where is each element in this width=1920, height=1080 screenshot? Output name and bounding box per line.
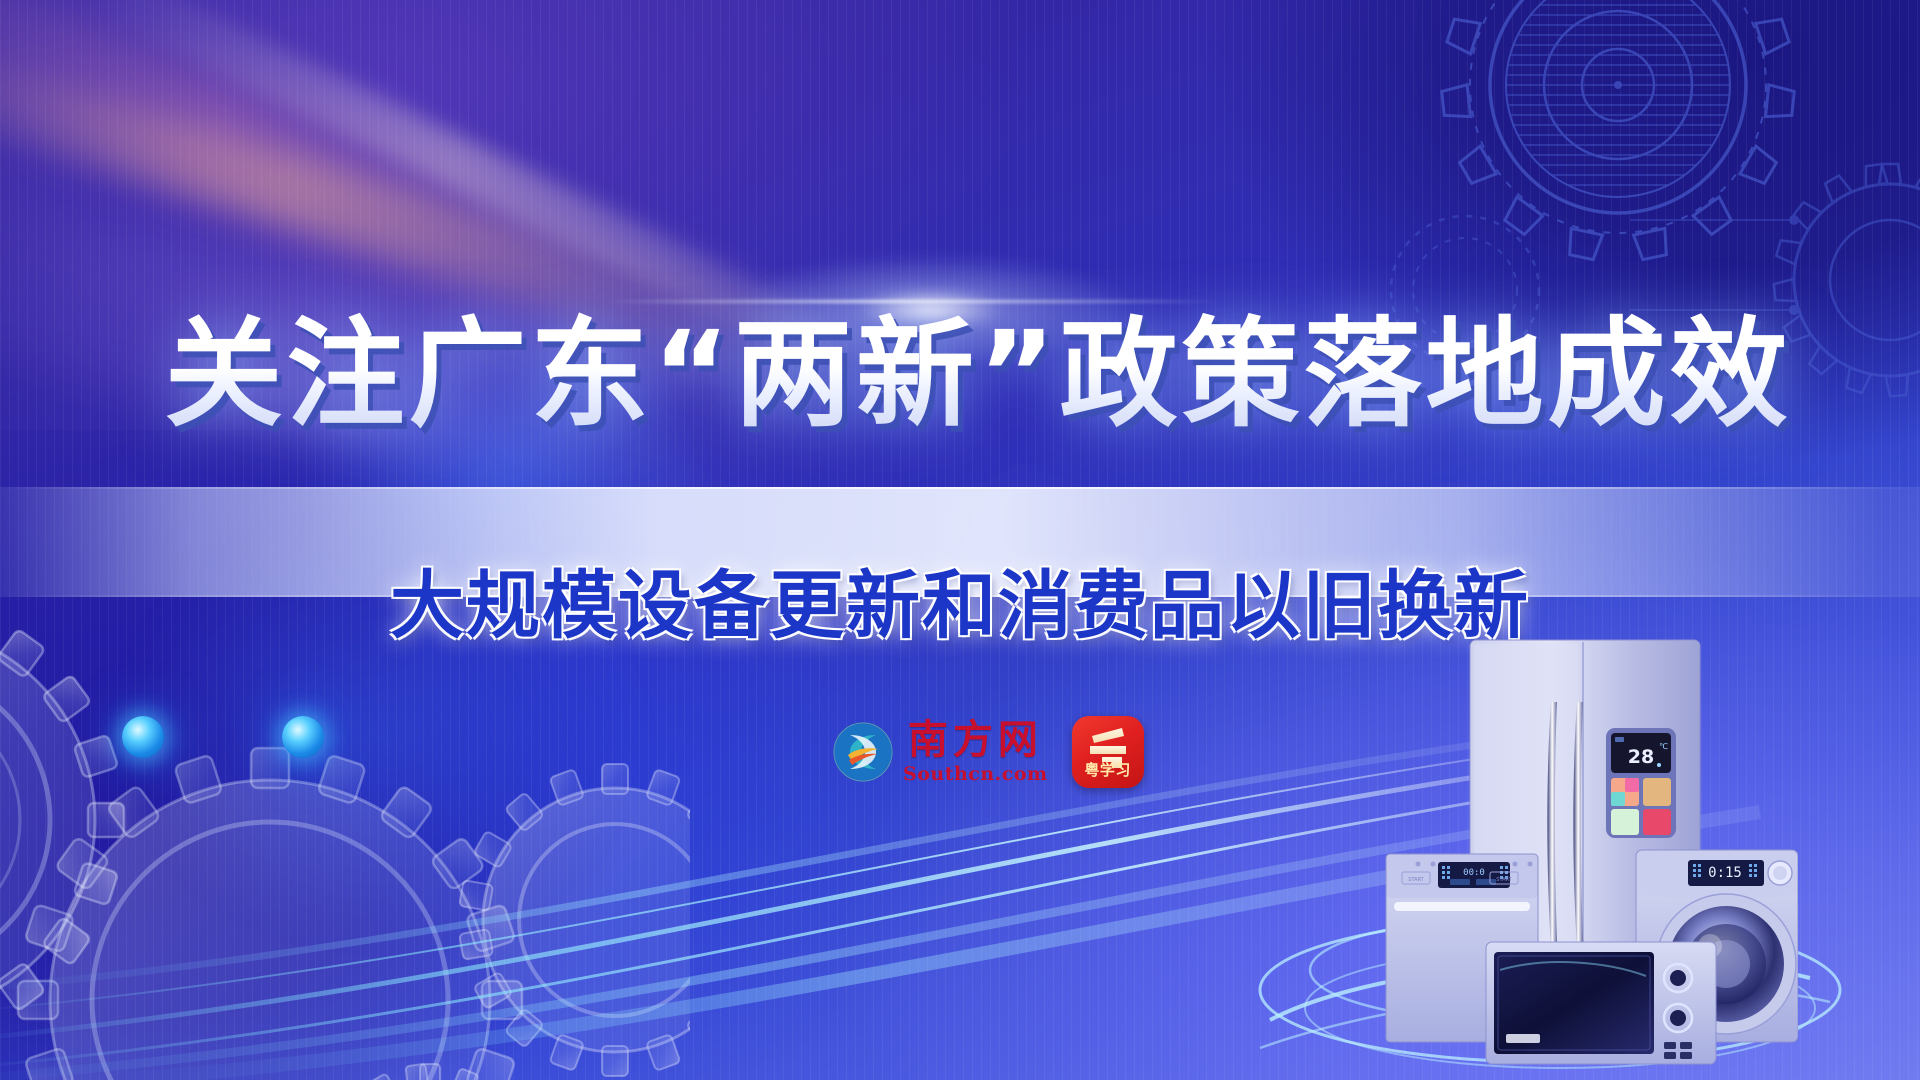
southcn-wordmark: 南方网 Southcn.com <box>903 720 1048 784</box>
microwave-shape <box>1486 942 1716 1064</box>
logo-group: 南方网 Southcn.com 粤学习 <box>832 716 1144 788</box>
glow-dot-right-icon <box>282 716 324 758</box>
southcn-logo[interactable]: 南方网 Southcn.com <box>832 720 1048 784</box>
yuexuexi-app-icon[interactable]: 粤学习 <box>1072 716 1144 788</box>
svg-text:START: START <box>1496 877 1512 883</box>
southcn-emblem-icon <box>832 721 894 783</box>
yuexuexi-label: 粤学习 <box>1072 759 1144 780</box>
fridge-display: 28 ℃ <box>1606 728 1676 838</box>
glow-dot-left-icon <box>122 716 164 758</box>
appliances-illustration: 28 ℃ <box>1378 632 1798 1080</box>
svg-text:℃: ℃ <box>1659 742 1668 751</box>
svg-text:00:0: 00:0 <box>1463 868 1485 878</box>
subtitle-band-top-edge <box>0 487 1920 489</box>
svg-text:28: 28 <box>1628 746 1654 768</box>
svg-text:0:15: 0:15 <box>1708 865 1742 881</box>
svg-text:START: START <box>1408 877 1424 883</box>
page-title: 关注广东“两新”政策落地成效 <box>0 311 1920 438</box>
banner-stage: 关注广东“两新”政策落地成效 大规模设备更新和消费品以旧换新 南方网 South <box>0 0 1920 1080</box>
southcn-name-en: Southcn.com <box>903 765 1048 784</box>
title-flare-line <box>600 300 1220 303</box>
southcn-name-cn: 南方网 <box>908 720 1043 760</box>
